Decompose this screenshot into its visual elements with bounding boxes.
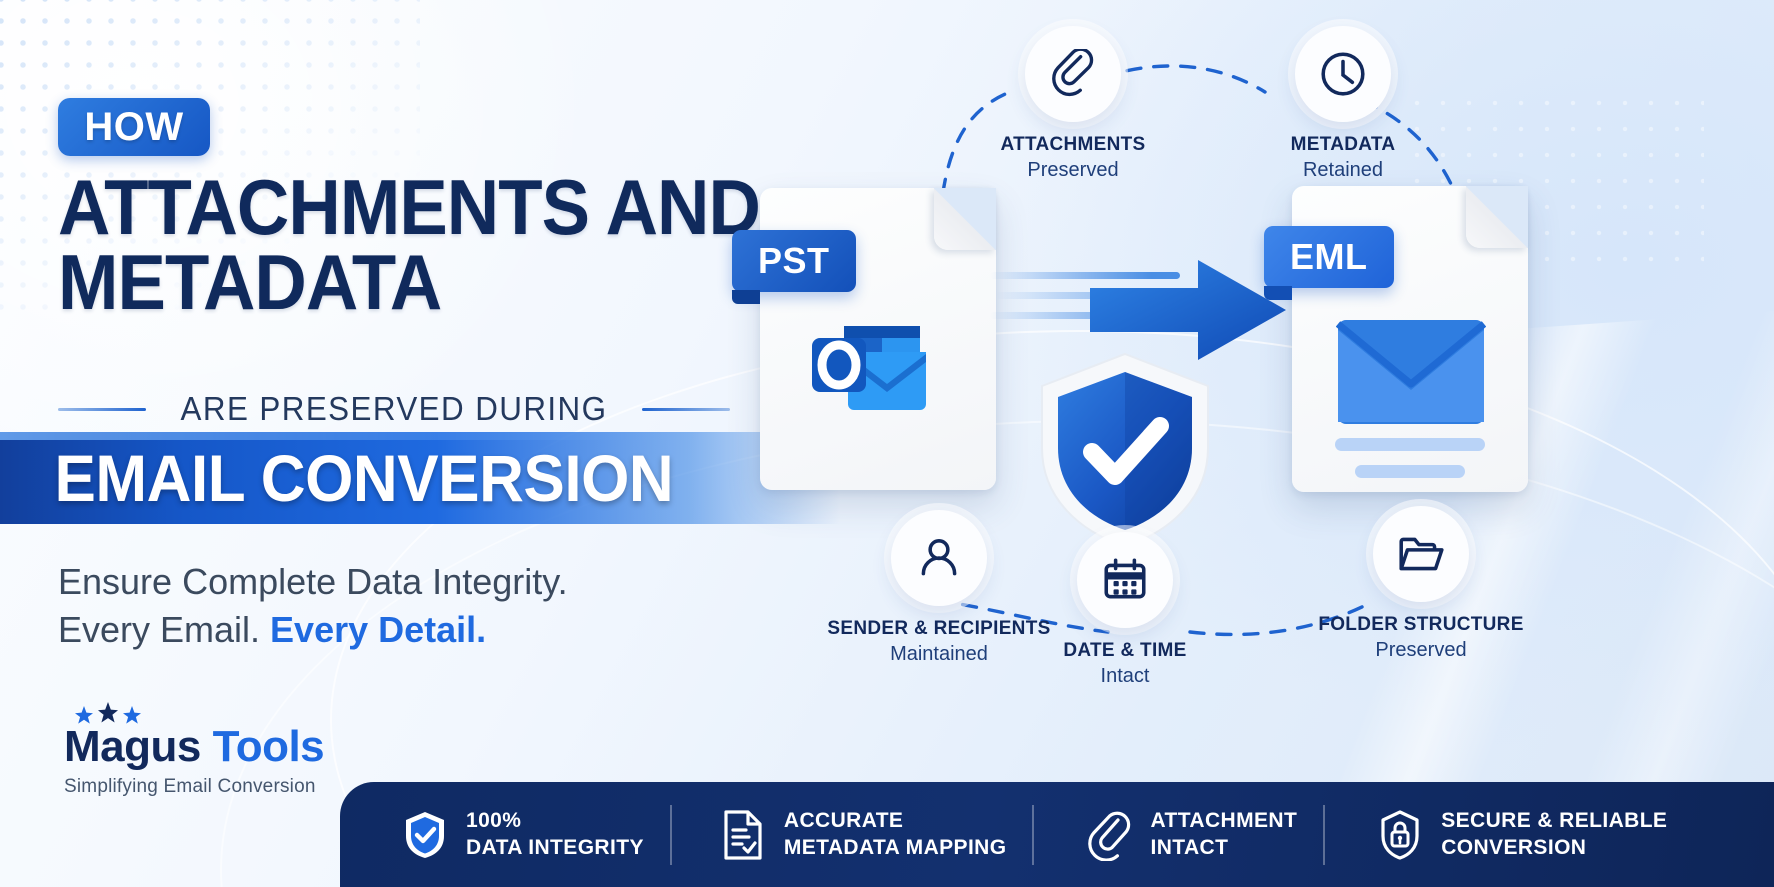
trust-line-1: SECURE & RELIABLE [1441, 808, 1667, 834]
subheadline: ARE PRESERVED DURING [58, 390, 730, 428]
calendar-icon [1100, 555, 1150, 605]
eml-text-placeholder-lines [1292, 438, 1528, 478]
page-title: ATTACHMENTS AND METADATA [58, 170, 793, 320]
eml-card-fold-corner [1466, 186, 1528, 248]
trust-item-text: 100% DATA INTEGRITY [466, 808, 644, 860]
trust-divider [1032, 805, 1034, 865]
trust-item-text: ACCURATE METADATA MAPPING [784, 808, 1007, 860]
feature-date-time: DATE & TIME Intact [1010, 532, 1240, 688]
arrow-head-icon [1090, 252, 1290, 368]
feature-metadata: METADATA Retained [1228, 26, 1458, 182]
eml-file-card: EML [1292, 186, 1528, 492]
trust-item-metadata-mapping: ACCURATE METADATA MAPPING [694, 808, 1033, 860]
subheadline-text: ARE PRESERVED DURING [176, 390, 613, 428]
placeholder-line-2 [1355, 465, 1465, 478]
trust-item-text: SECURE & RELIABLE CONVERSION [1441, 808, 1667, 860]
emphasis-band-text: EMAIL CONVERSION [0, 440, 673, 516]
feature-title: ATTACHMENTS [958, 134, 1188, 156]
logo-slogan: Simplifying Email Conversion [64, 776, 324, 798]
tagline-line2: Every Email. Every Detail. [58, 606, 698, 654]
clock-icon [1318, 49, 1368, 99]
logo-stars [70, 702, 180, 724]
feature-title: METADATA [1228, 134, 1458, 156]
feature-folder-structure: FOLDER STRUCTURE Preserved [1306, 506, 1536, 662]
trust-line-2: INTACT [1150, 835, 1297, 861]
trust-item-data-integrity: 100% DATA INTEGRITY [376, 808, 670, 860]
folder-icon [1396, 529, 1446, 579]
trust-line-1: ACCURATE [784, 808, 1007, 834]
subheadline-rule-right [642, 408, 730, 411]
trust-line-2: METADATA MAPPING [784, 835, 1007, 861]
feature-status: Intact [1010, 665, 1240, 688]
user-icon [914, 533, 964, 583]
trust-divider [670, 805, 672, 865]
feature-status: Retained [1228, 159, 1458, 182]
pst-ribbon-label: PST [732, 230, 856, 292]
trust-line-1: ATTACHMENT [1150, 808, 1297, 834]
shield-lock-icon [1377, 809, 1423, 861]
headline-column: HOW ATTACHMENTS AND METADATA ARE PRESERV… [0, 0, 860, 887]
subheadline-rule-left [58, 408, 146, 411]
feature-status: Preserved [1306, 639, 1536, 662]
tagline-line2-accent: Every Detail. [270, 609, 486, 650]
feature-icon-circle [1025, 26, 1121, 122]
feature-icon-circle [1295, 26, 1391, 122]
feature-title: DATE & TIME [1010, 640, 1240, 662]
trust-line-1: 100% [466, 808, 644, 834]
pst-label-text: PST [758, 240, 830, 282]
how-badge: HOW [58, 98, 210, 156]
feature-attachments: ATTACHMENTS Preserved [958, 26, 1188, 182]
emphasis-band: EMAIL CONVERSION [0, 432, 840, 524]
how-badge-label: HOW [84, 107, 183, 147]
trust-line-2: DATA INTEGRITY [466, 835, 644, 861]
trust-line-2: CONVERSION [1441, 835, 1667, 861]
brand-logo[interactable]: Magus Tools Simplifying Email Conversion [64, 702, 324, 798]
trust-bar: 100% DATA INTEGRITY ACCURATE METADATA MA… [340, 782, 1774, 887]
trust-item-text: ATTACHMENT INTACT [1150, 808, 1297, 860]
paperclip-icon [1086, 809, 1132, 861]
infographic-canvas: HOW ATTACHMENTS AND METADATA ARE PRESERV… [0, 0, 1774, 887]
eml-label-text: EML [1290, 236, 1368, 278]
trust-item-attachment-intact: ATTACHMENT INTACT [1060, 808, 1323, 860]
tagline-line2-plain: Every Email. [58, 609, 270, 650]
stars-icon [70, 702, 180, 726]
pst-file-card: PST [760, 188, 996, 490]
logo-wordmark: Magus Tools [64, 724, 324, 770]
tagline-line1: Ensure Complete Data Integrity. [58, 558, 698, 606]
feature-status: Preserved [958, 159, 1188, 182]
logo-name-magus: Magus [64, 722, 201, 771]
document-check-icon [720, 809, 766, 861]
feature-icon-circle [1373, 506, 1469, 602]
tagline: Ensure Complete Data Integrity. Every Em… [58, 558, 698, 654]
feature-title: FOLDER STRUCTURE [1306, 614, 1536, 636]
paperclip-icon [1048, 49, 1098, 99]
trust-divider [1323, 805, 1325, 865]
trust-item-secure-conversion: SECURE & RELIABLE CONVERSION [1351, 808, 1693, 860]
conversion-diagram: PST EML [840, 0, 1774, 887]
shield-check-icon [402, 809, 448, 861]
page-title-line2: METADATA [58, 245, 793, 320]
logo-name-tools: Tools [201, 722, 324, 771]
feature-icon-circle [891, 510, 987, 606]
verified-shield-icon [1036, 352, 1214, 548]
outlook-icon [808, 308, 928, 418]
feature-icon-circle [1077, 532, 1173, 628]
placeholder-line-1 [1335, 438, 1485, 451]
envelope-icon [1336, 318, 1486, 426]
emphasis-band-glow [0, 432, 840, 440]
pst-card-fold-corner [934, 188, 996, 250]
